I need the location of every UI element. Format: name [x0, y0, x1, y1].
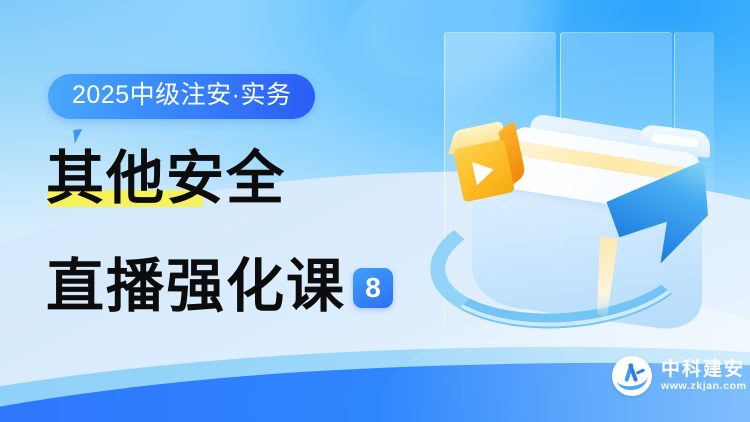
play-cube-icon [443, 118, 528, 203]
brand-logo-text: 中科建安 www.zkjan.com [661, 360, 747, 392]
course-category-tag: 2025中级注安·实务 [48, 74, 315, 119]
zkjan-circle-logo-icon [612, 356, 652, 396]
page-title: 其他安全 [46, 147, 286, 211]
illustration-group [402, 0, 750, 360]
tag-speech-tail [73, 128, 92, 144]
headline-line-2: 直播强化课 8 [46, 256, 393, 317]
course-promo-banner: 2025中级注安·实务 其他安全 直播强化课 8 中科建安 www.zkjan.… [0, 0, 750, 422]
episode-number-badge: 8 [353, 268, 393, 308]
headline-line-1: 其他安全 [46, 147, 286, 211]
headline-line-2-text: 直播强化课 [46, 256, 346, 317]
brand-logo: 中科建安 www.zkjan.com [612, 356, 747, 396]
headline-line-1-text: 其他安全 [46, 144, 286, 212]
brand-name: 中科建安 [661, 360, 747, 379]
brand-url: www.zkjan.com [661, 381, 747, 392]
